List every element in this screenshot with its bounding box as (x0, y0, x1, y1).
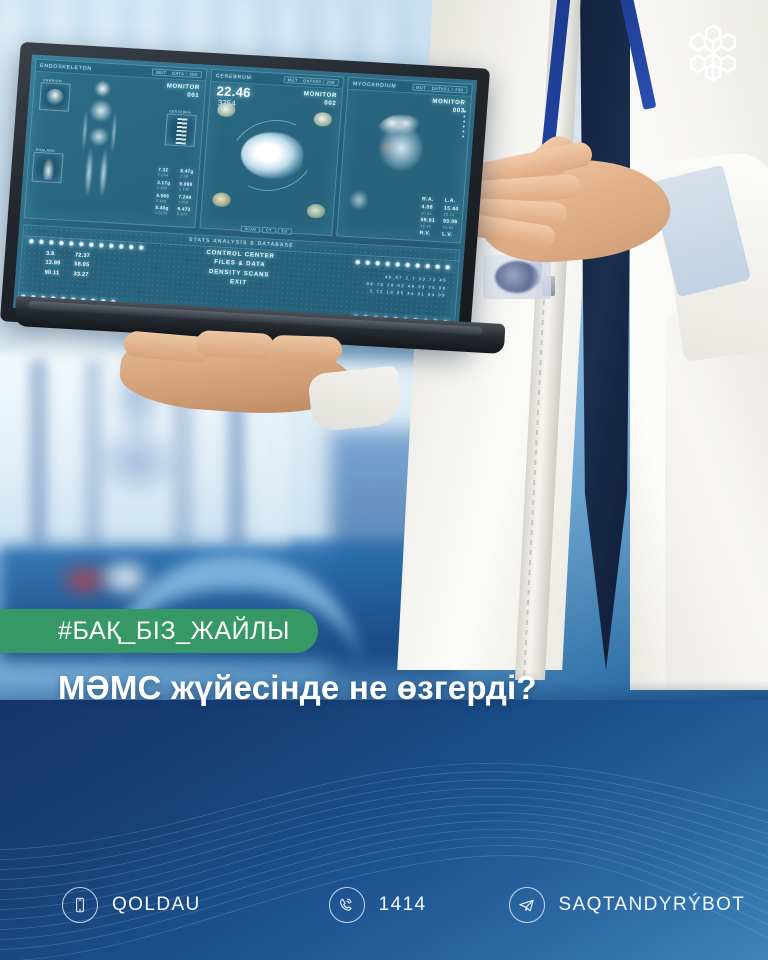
brain-slice-thumbnail (217, 102, 236, 117)
readout-column-left: 7.32 7.044 3.17g 1.930 4.566 9.442 8.40g… (155, 166, 172, 217)
panel-title: CEREBRUM (216, 73, 252, 81)
footer-contact-bar: QOLDAU 1414 SAQTANDYRÝBO (0, 850, 768, 960)
brain-slice-thumbnail (212, 192, 231, 207)
holding-hand (120, 330, 380, 440)
footer-label-telegram-bot: SAQTANDYRÝBOT (559, 894, 746, 916)
thumbnail-label: PHALANX (36, 148, 55, 153)
telegram-plane-icon (509, 887, 545, 923)
laptop-screen: ENDOSKELETON MUT · DATA / 200 MONITOR 00… (13, 55, 477, 334)
spine-scan-thumbnail[interactable]: VERTEBRA (165, 113, 197, 147)
skeleton-readouts: 7.32 7.044 3.17g 1.930 4.566 9.442 8.40g… (155, 166, 194, 219)
monitor-number: 002 (303, 99, 337, 108)
panel-subtitle: MUT · DATA / 200 (152, 68, 202, 78)
monitor-number: 001 (166, 91, 200, 100)
lab-coat-lower-right (665, 310, 768, 690)
panel-cerebrum[interactable]: CEREBRUM MUT · DATA50 / 200 22.46 3754 M… (199, 69, 344, 236)
status-dot (463, 125, 465, 127)
holding-hand-finger (195, 330, 274, 360)
readout-column-right: 8.47g 2.39 9.069 1.142 7.244 1.019 9.473… (177, 168, 194, 219)
chamber-sub: 39.36 (420, 224, 435, 230)
readout-sub: 1.142 (179, 187, 193, 193)
panel-subtitle: MUT · DATA61 / 200 (412, 83, 468, 93)
brain-slice-thumbnail (314, 112, 333, 127)
readout-sub: 1.930 (157, 186, 171, 192)
heart-render (373, 114, 428, 181)
status-dot (464, 110, 466, 112)
eg-button[interactable]: EG (277, 228, 291, 235)
footer-item-hotline[interactable]: 1414 (329, 887, 427, 923)
background-indicator-white (95, 555, 155, 600)
chamber-sub: 10.61 (421, 211, 436, 217)
hexagonal-flower-logo-icon (682, 22, 744, 84)
heart-secondary-render (345, 186, 373, 217)
status-dot (462, 135, 464, 137)
hashtag-badge: #БАҚ_БІЗ_ЖАЙЛЫ (0, 609, 318, 653)
readout-sub: 1.019 (178, 200, 192, 206)
heart-chamber-stats: R.A. 4.08 10.61 59.91 39.36 R.V. L.A. 15… (419, 196, 459, 239)
footer-item-telegram-bot[interactable]: SAQTANDYRÝBOT (509, 887, 746, 923)
hashtag-badge-label: #БАҚ_БІЗ_ЖАЙЛЫ (58, 617, 290, 646)
smartphone-icon (62, 887, 98, 923)
panel-header: MYOCARDIUM MUT · DATA61 / 200 (348, 78, 471, 97)
numbers-column-right: 72.37 58.05 33.27 (73, 251, 90, 280)
panel-title: MYOCARDIUM (353, 81, 397, 90)
holding-hand-finger (270, 335, 343, 363)
chamber-sub: 24.82 (442, 226, 457, 232)
brain-slice-thumbnail (307, 204, 326, 219)
scan-button[interactable]: SCAN (240, 226, 260, 233)
panel-subtitle: MUT · DATA50 / 200 (283, 76, 339, 86)
monitor-tag: MONITOR 002 (303, 91, 337, 108)
footer-label-hotline: 1414 (379, 894, 427, 916)
monitor-number: 003 (431, 106, 465, 115)
strip-left-numbers: 3.8 13.89 90.11 72.37 58.05 33.27 (44, 250, 90, 281)
screen-panel-row: ENDOSKELETON MUT · DATA / 200 MONITOR 00… (19, 55, 477, 248)
chamber-label: R.V. (419, 230, 434, 238)
stats-column-right: L.A. 15.44 20.72 93.06 24.82 L.V. (442, 198, 460, 240)
readout-sub: 1.0174 (155, 211, 169, 217)
number-cell: 90.11 (44, 269, 60, 279)
monitor-tag: MONITOR 001 (166, 83, 200, 100)
readout-sub: 0.477 (177, 213, 191, 219)
scan-mode-buttons[interactable]: SCAN CT EG (240, 226, 292, 235)
thumbnail-label: CRANIUM (43, 78, 62, 83)
necktie (575, 0, 637, 670)
footer-label-qoldau: QOLDAU (112, 894, 201, 916)
ct-button[interactable]: CT (262, 227, 276, 234)
readout-sub: 9.442 (156, 199, 170, 205)
panel-title: ENDOSKELETON (40, 63, 92, 72)
readout-sub: 7.044 (157, 173, 171, 179)
readout-sub: 2.39 (180, 175, 194, 181)
laptop-device: ENDOSKELETON MUT · DATA / 200 MONITOR 00… (10, 55, 510, 355)
number-cell: 33.27 (73, 270, 89, 280)
chamber-sub: 20.72 (443, 213, 458, 219)
stats-column-left: R.A. 4.08 10.61 59.91 39.36 R.V. (419, 196, 437, 238)
page-title: МӘМС жүйесінде не өзгерді? (58, 669, 718, 707)
social-media-poster: ENDOSKELETON MUT · DATA / 200 MONITOR 00… (0, 0, 768, 960)
monitor-tag: MONITOR 003 (431, 99, 465, 116)
panel-myocardium[interactable]: MYOCARDIUM MUT · DATA61 / 200 MONITOR 00… (336, 77, 472, 244)
status-dot (463, 120, 465, 122)
footer-item-qoldau[interactable]: QOLDAU (62, 887, 201, 923)
brand-logo (682, 22, 744, 84)
panel-endoskeleton[interactable]: ENDOSKELETON MUT · DATA / 200 MONITOR 00… (24, 59, 208, 228)
led-indicator-row (355, 259, 450, 269)
strip-right-numbers: 49.97 2.7 33.72 45 88.70 29.02 49.33 76.… (366, 272, 448, 299)
cerebrum-big-value: 22.46 (216, 84, 251, 99)
status-dot (463, 115, 465, 117)
skeleton-render (68, 78, 130, 211)
skull-scan-thumbnail[interactable]: CRANIUM (39, 82, 71, 112)
phone-call-icon (329, 887, 365, 923)
hand-scan-thumbnail[interactable]: PHALANX (31, 152, 63, 184)
status-dot (462, 130, 464, 132)
chamber-label: L.V. (442, 231, 457, 239)
numbers-column-left: 3.8 13.89 90.11 (44, 250, 61, 279)
thumbnail-label: VERTEBRA (169, 109, 191, 114)
